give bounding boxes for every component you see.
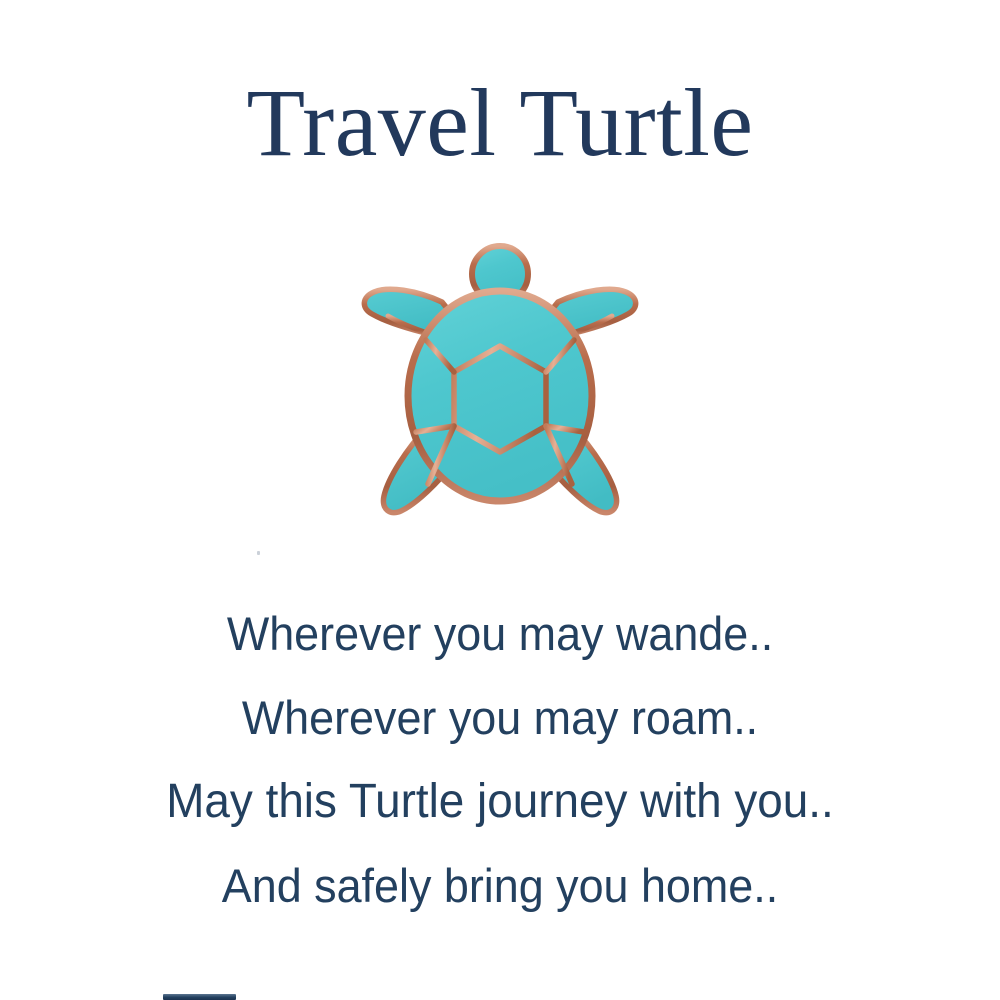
turtle-shell — [408, 291, 592, 501]
cropped-graphic-edge — [163, 994, 236, 1000]
print-speck — [257, 551, 260, 555]
verse-line-3: May this Turtle journey with you.. — [23, 760, 978, 844]
verse-line-4: And safely bring you home.. — [23, 844, 978, 928]
greeting-card: Travel Turtle — [0, 0, 1000, 1000]
turtle-icon — [350, 234, 650, 526]
verse-block: Wherever you may wande.. Wherever you ma… — [0, 592, 1000, 928]
turtle-pin-image — [350, 234, 650, 526]
verse-line-2: Wherever you may roam.. — [23, 676, 978, 760]
verse-line-1: Wherever you may wande.. — [23, 592, 978, 676]
page-title: Travel Turtle — [0, 75, 1000, 171]
